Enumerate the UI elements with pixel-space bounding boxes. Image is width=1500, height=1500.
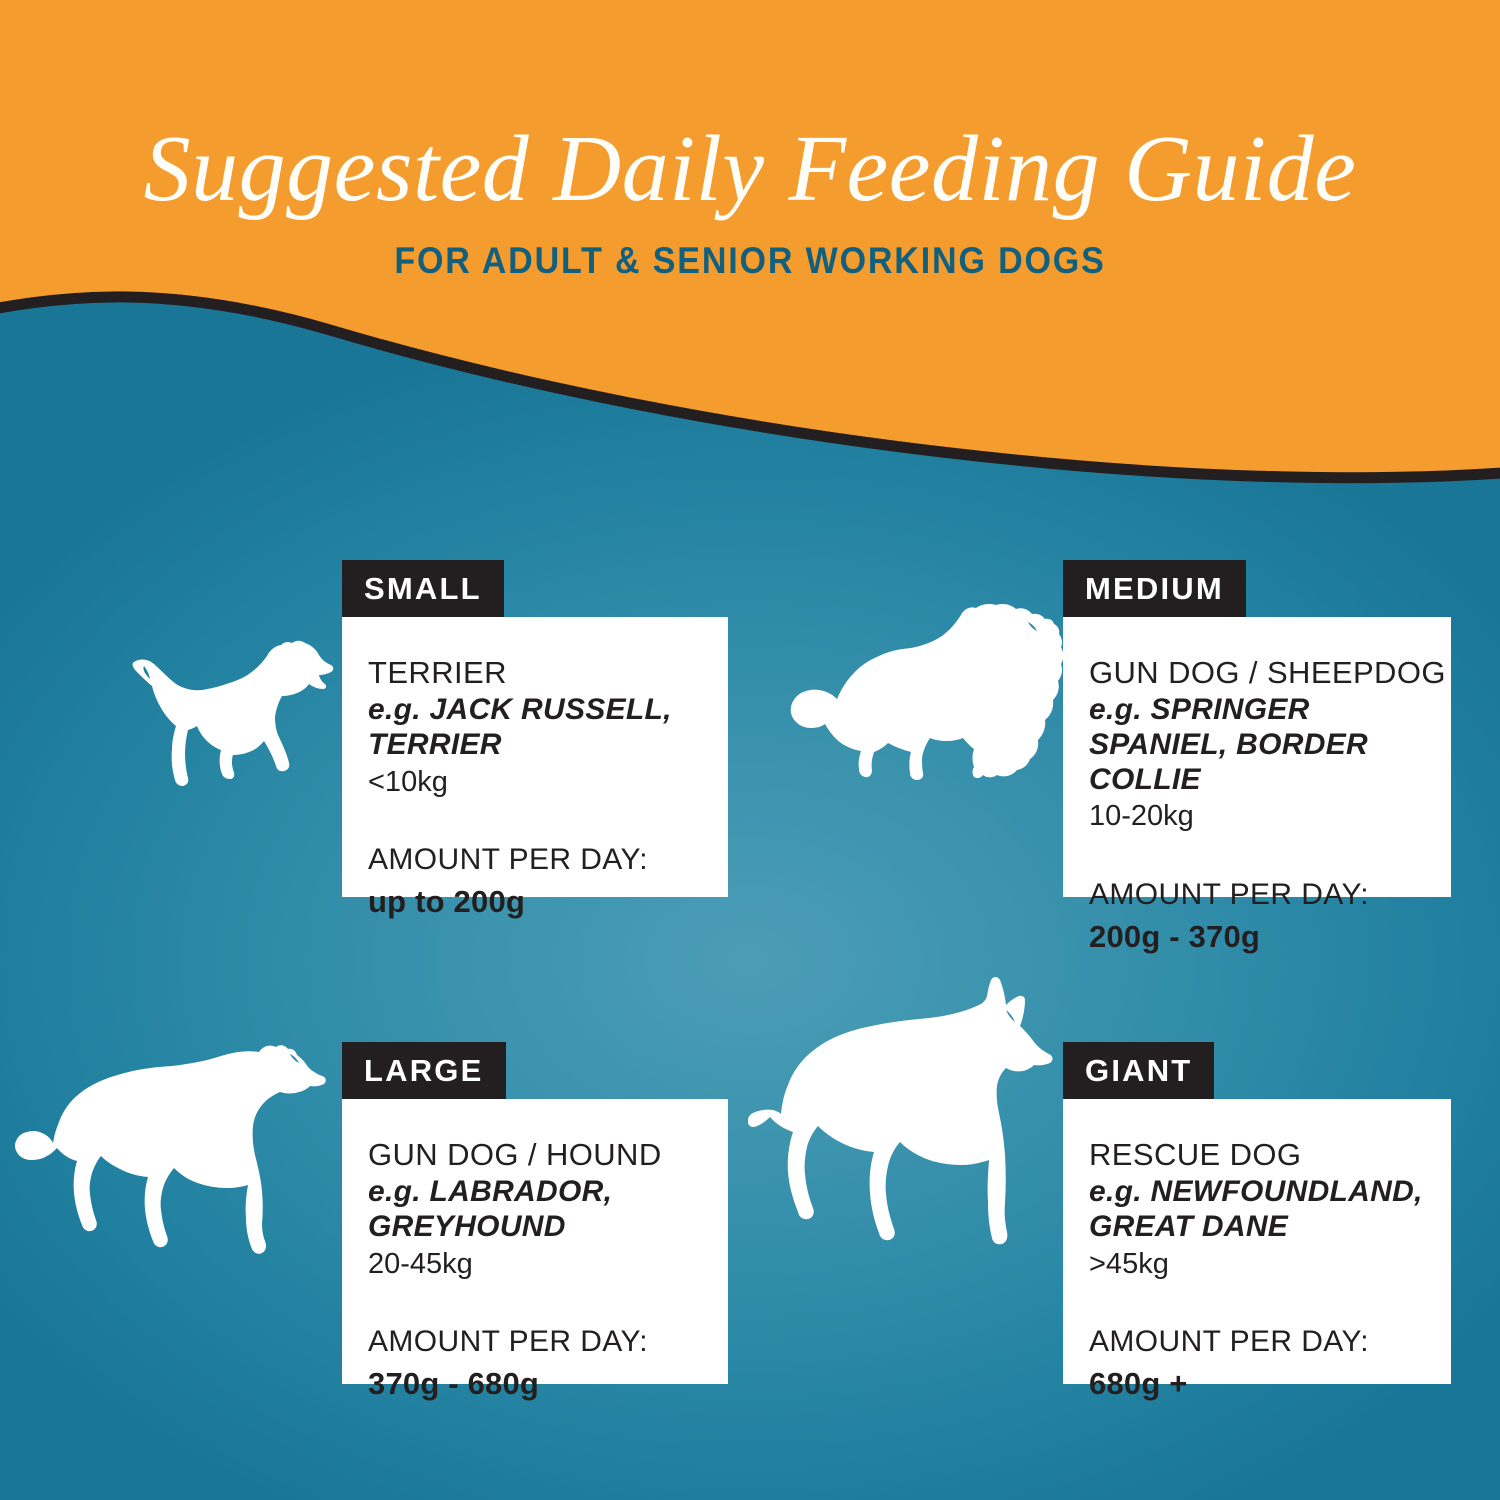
amount-per-day-label: AMOUNT PER DAY: [1089,878,1425,913]
size-tab-label: MEDIUM [1085,571,1224,607]
info-card-medium: GUN DOG / SHEEPDOG e.g. SPRINGER SPANIEL… [1063,617,1451,897]
size-tab-label: LARGE [364,1053,484,1089]
amount-per-day-label: AMOUNT PER DAY: [368,843,702,878]
info-card-small: TERRIER e.g. JACK RUSSELL, TERRIER <10kg… [342,617,728,897]
breed-type: GUN DOG / HOUND [368,1137,702,1173]
amount-per-day-value: 200g - 370g [1089,919,1425,955]
info-card-giant: RESCUE DOG e.g. NEWFOUNDLAND, GREAT DANE… [1063,1099,1451,1384]
amount-per-day-value: up to 200g [368,884,702,920]
great-dane-silhouette-icon [748,975,1078,1275]
info-card-large: GUN DOG / HOUND e.g. LABRADOR, GREYHOUND… [342,1099,728,1384]
border-collie-silhouette-icon [790,600,1065,780]
weight-range: 20-45kg [368,1247,702,1282]
breed-examples: e.g. JACK RUSSELL, TERRIER [368,693,702,763]
feeding-guide-infographic: Suggested Daily Feeding Guide FOR ADULT … [0,0,1500,1500]
weight-range: >45kg [1089,1247,1425,1282]
weight-range: <10kg [368,765,702,800]
breed-examples: e.g. LABRADOR, GREYHOUND [368,1175,702,1245]
breed-type: TERRIER [368,655,702,691]
size-tab-label: GIANT [1085,1053,1192,1089]
terrier-silhouette-icon [120,628,345,793]
breed-examples: e.g. SPRINGER SPANIEL, BORDER COLLIE [1089,693,1425,797]
size-tab-label: SMALL [364,571,482,607]
orange-band-shape [0,0,1500,478]
weight-range: 10-20kg [1089,799,1425,834]
amount-per-day-value: 680g + [1089,1366,1425,1402]
size-tab-medium: MEDIUM [1063,560,1246,618]
header-orange-band [0,0,1500,520]
breed-type: GUN DOG / SHEEPDOG [1089,655,1425,691]
amount-per-day-value: 370g - 680g [368,1366,702,1402]
greyhound-silhouette-icon [14,1040,344,1290]
breed-examples: e.g. NEWFOUNDLAND, GREAT DANE [1089,1175,1425,1245]
size-tab-large: LARGE [342,1042,506,1100]
size-tab-small: SMALL [342,560,504,618]
amount-per-day-label: AMOUNT PER DAY: [368,1325,702,1360]
amount-per-day-label: AMOUNT PER DAY: [1089,1325,1425,1360]
size-tab-giant: GIANT [1063,1042,1214,1100]
breed-type: RESCUE DOG [1089,1137,1425,1173]
